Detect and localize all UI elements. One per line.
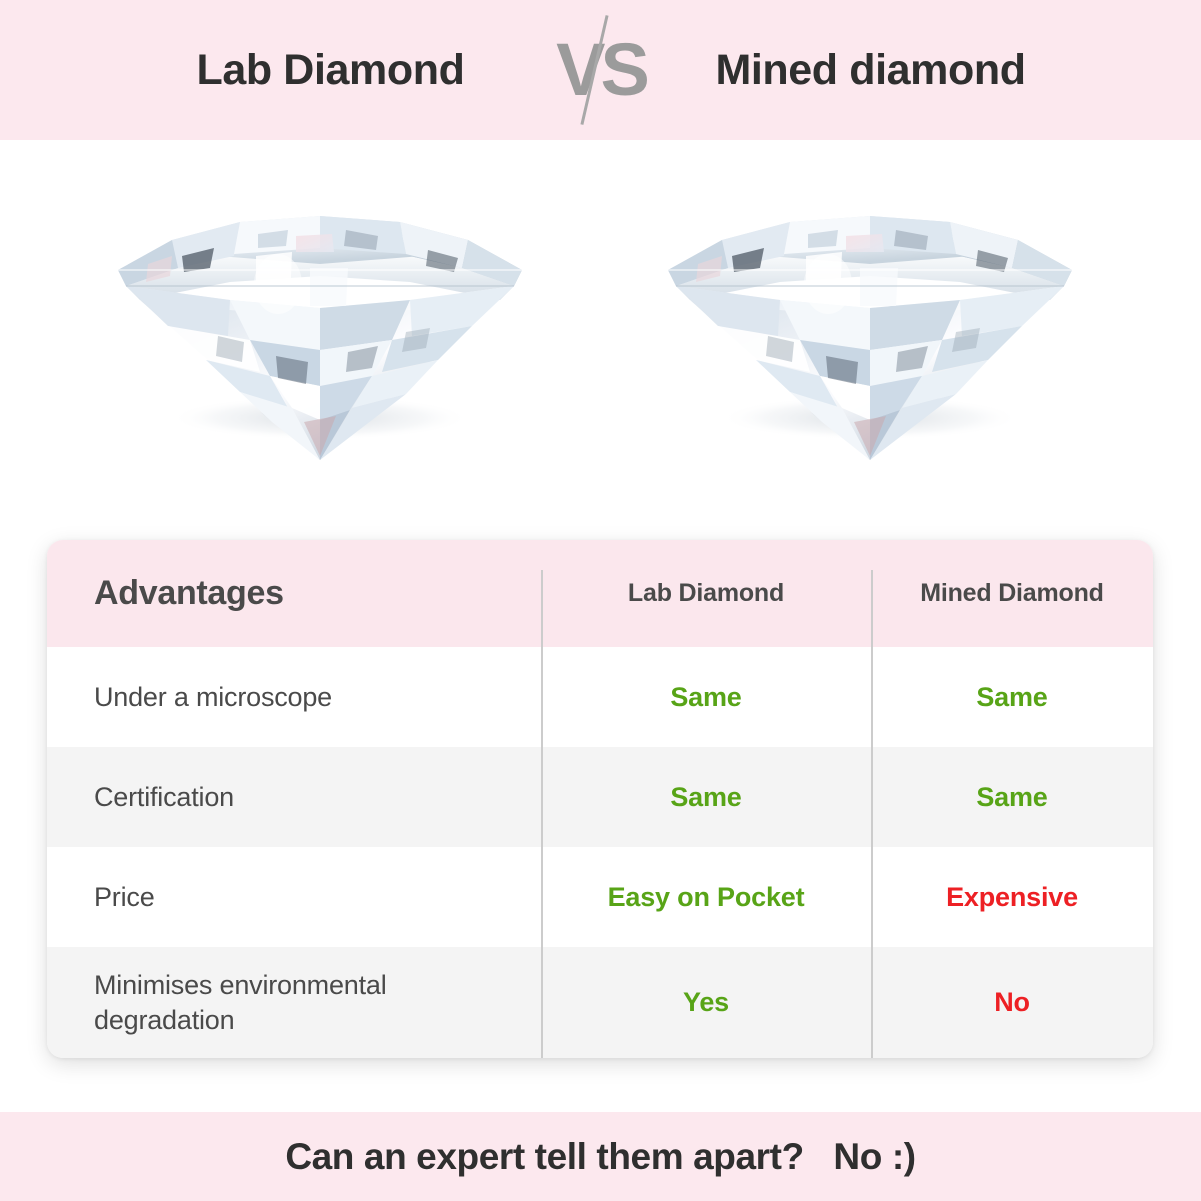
- table-row: Price Easy on Pocket Expensive: [47, 847, 1153, 947]
- page-title-lab: Lab Diamond: [121, 46, 541, 95]
- row-feature-label: Price: [94, 882, 155, 912]
- row-feature-label: Under a microscope: [94, 682, 332, 712]
- row-lab-cell: Yes: [541, 987, 871, 1018]
- header-cell-mined: Mined Diamond: [871, 579, 1153, 608]
- row-lab-value: Same: [670, 682, 741, 712]
- page-title-mined: Mined diamond: [661, 46, 1081, 95]
- row-lab-cell: Easy on Pocket: [541, 882, 871, 913]
- row-mined-value: Same: [976, 682, 1047, 712]
- row-mined-cell: Same: [871, 682, 1153, 713]
- header-label-mined: Mined Diamond: [920, 579, 1104, 607]
- row-lab-cell: Same: [541, 682, 871, 713]
- diamond-image-lab: [110, 160, 530, 490]
- lab-diamond-icon: [110, 160, 530, 490]
- vs-badge: VS: [541, 10, 661, 130]
- header-label-lab: Lab Diamond: [628, 579, 784, 607]
- header-cell-lab: Lab Diamond: [541, 579, 871, 608]
- diamond-stage: [0, 140, 1201, 540]
- table-header-row: Advantages Lab Diamond Mined Diamond: [47, 540, 1153, 647]
- row-feature-cell: Minimises environmental degradation: [47, 968, 541, 1037]
- footer-question: Can an expert tell them apart? No :): [285, 1136, 915, 1178]
- header-band: Lab Diamond VS Mined diamond: [0, 0, 1201, 140]
- row-lab-value: Yes: [683, 987, 729, 1017]
- row-lab-value: Easy on Pocket: [608, 882, 805, 912]
- table-row: Certification Same Same: [47, 747, 1153, 847]
- row-feature-cell: Under a microscope: [47, 680, 541, 715]
- row-feature-cell: Price: [47, 880, 541, 915]
- row-mined-cell: No: [871, 987, 1153, 1018]
- row-feature-label: Certification: [94, 782, 234, 812]
- row-mined-value: Same: [976, 782, 1047, 812]
- table-row: Minimises environmental degradation Yes …: [47, 947, 1153, 1058]
- row-mined-value: No: [994, 987, 1030, 1017]
- row-mined-cell: Expensive: [871, 882, 1153, 913]
- row-mined-value: Expensive: [946, 882, 1078, 912]
- footer-band: Can an expert tell them apart? No :): [0, 1112, 1201, 1201]
- row-lab-cell: Same: [541, 782, 871, 813]
- header-label-advantages: Advantages: [94, 574, 284, 612]
- table-row: Under a microscope Same Same: [47, 647, 1153, 747]
- row-feature-cell: Certification: [47, 780, 541, 815]
- row-feature-label: Minimises environmental degradation: [94, 970, 387, 1035]
- diamond-image-mined: [660, 160, 1080, 490]
- comparison-table-card: Advantages Lab Diamond Mined Diamond Und…: [47, 540, 1153, 1058]
- row-lab-value: Same: [670, 782, 741, 812]
- header-cell-feature: Advantages: [47, 574, 541, 613]
- mined-diamond-icon: [660, 160, 1080, 490]
- row-mined-cell: Same: [871, 782, 1153, 813]
- comparison-table: Advantages Lab Diamond Mined Diamond Und…: [47, 540, 1153, 1058]
